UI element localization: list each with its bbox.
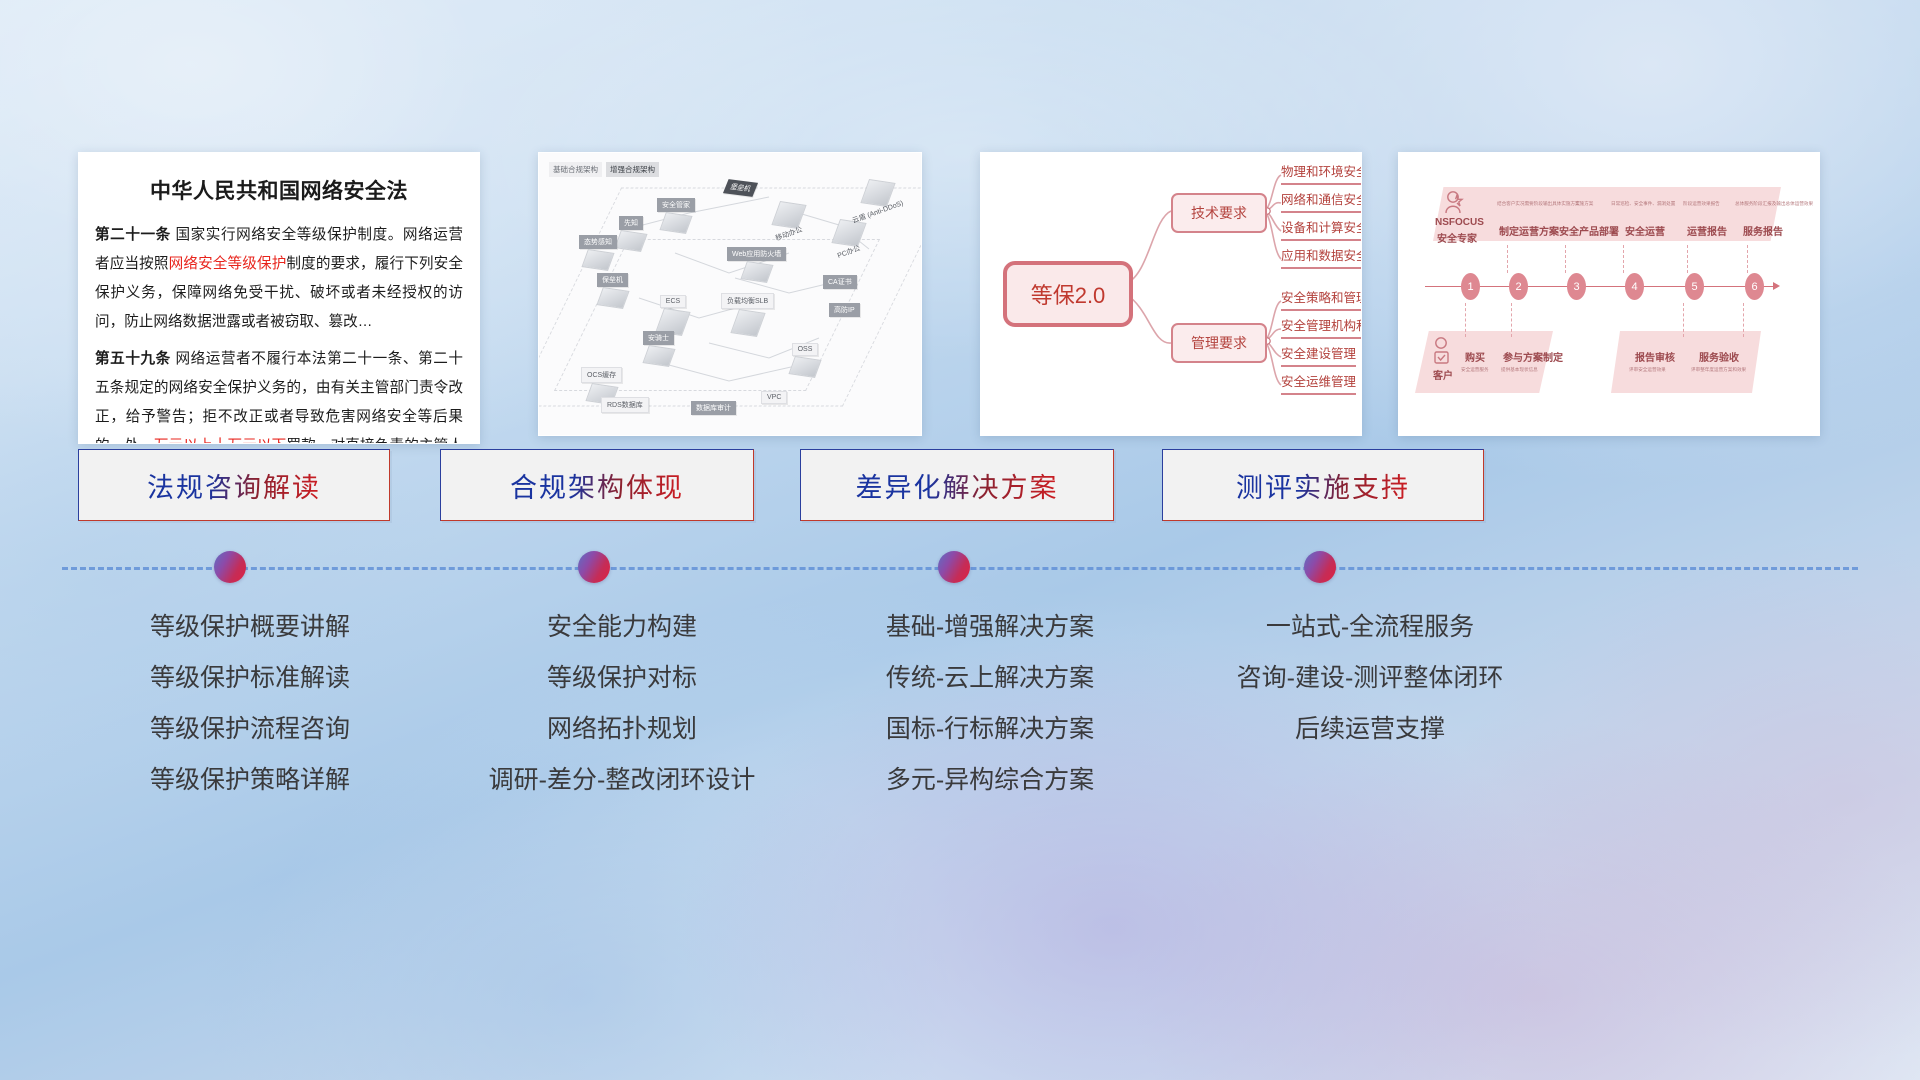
arch-chip-oss: OSS (792, 343, 819, 356)
arch-node-oss: OSS (791, 343, 819, 376)
list-item: 后续运营支撑 (1160, 704, 1580, 755)
nsfocus-top-title-3: 安全运营 (1625, 223, 1665, 238)
nsfocus-top-title-1: 制定运营方案 (1499, 223, 1559, 238)
arch-cube-jump-server (596, 287, 629, 309)
nsfocus-top-sub-5: 总体服务阶段汇报及输出总体运营效果 (1735, 201, 1813, 207)
nsfocus-bottom-title-1: 购买 (1465, 349, 1485, 364)
arch-chip-waf: Web应用防火墙 (727, 247, 786, 261)
arch-node-rds: RDS数据库 (601, 397, 649, 413)
arch-cube-xianzhi (614, 230, 647, 252)
arch-node-anti-ddos-ip: 高防IP (829, 303, 860, 317)
nsfocus-top-sub-2: 实施方案 (1575, 201, 1593, 207)
arch-node-db-audit: 数据库审计 (691, 401, 736, 415)
mindmap-leaf-org-personnel: 安全管理机构和人员 (1281, 315, 1362, 339)
detail-column-1: 等级保护概要讲解 等级保护标准解读 等级保护流程咨询 等级保护策略详解 (60, 602, 440, 806)
nsfocus-tick-1 (1507, 245, 1509, 273)
timeline-dot-1[interactable] (214, 551, 246, 583)
arch-node-waf: Web应用防火墙 (727, 247, 786, 281)
mindmap: 等保2.0 技术要求 管理要求 物理和环境安全 网络和通信安全 设备和计算安全 … (981, 153, 1361, 435)
arch-chip-xianzhi: 先知 (619, 216, 643, 230)
arch-node-slb: 负载均衡SLB (721, 293, 774, 335)
arch-chip-slb: 负载均衡SLB (721, 293, 774, 309)
list-item: 一站式-全流程服务 (1160, 602, 1580, 653)
arch-cube-security-butler (659, 212, 692, 234)
article-21-highlight: 网络安全等级保护 (169, 256, 287, 272)
nsfocus-step-dot-1: 1 (1461, 273, 1480, 300)
nsfocus-top-sub-1: 结合客户实况需要阶段输出具体实施方案 (1497, 201, 1580, 207)
detail-column-3: 基础-增强解决方案 传统-云上解决方案 国标-行标解决方案 多元-异构综合方案 (800, 602, 1180, 806)
arch-node-xianzhi: 先知 (617, 216, 645, 250)
arch-chip-security-butler: 安全管家 (657, 198, 695, 212)
nsfocus-step-dot-6: 6 (1745, 273, 1764, 300)
nsfocus-bottom-title-3: 报告审核 (1635, 349, 1675, 364)
title-label-1: 法规咨询解读 (147, 466, 321, 505)
list-item: 等级保护概要讲解 (60, 602, 440, 653)
arch-cube-slb (730, 309, 765, 337)
arch-node-anqishi: 安骑士 (643, 331, 674, 365)
nsfocus-step-dot-4: 4 (1625, 273, 1644, 300)
card-cybersecurity-law: 中华人民共和国网络安全法 第二十一条 国家实行网络安全等级保护制度。网络运营者应… (78, 152, 480, 444)
law-article-59: 第五十九条 网络运营者不履行本法第二十一条、第二十五条规定的网络安全保护义务的，… (95, 345, 463, 444)
arch-cube-situational-awareness (581, 249, 614, 271)
arch-cube-waf (740, 261, 773, 283)
arch-node-anti-ddos: 云盾 (Anti-DDoS) (851, 179, 905, 217)
nsfocus-top-title-2: 安全产品部署 (1559, 223, 1619, 238)
nsfocus-bottom-sub-2: 提供基本现状信息 (1501, 367, 1538, 373)
list-item: 网络拓扑规划 (432, 704, 812, 755)
architecture-diagram: 基础合规架构 增强合规架构 (539, 153, 921, 435)
arch-node-bastion-top: 堡垒机 (725, 181, 756, 195)
arch-chip-ecs: ECS (660, 295, 686, 308)
nsfocus-tick-7 (1511, 303, 1513, 337)
mindmap-branch-technical: 技术要求 (1171, 193, 1267, 233)
nsfocus-step-dot-5: 5 (1685, 273, 1704, 300)
card-mindmap-dengbao: 等保2.0 技术要求 管理要求 物理和环境安全 网络和通信安全 设备和计算安全 … (980, 152, 1362, 436)
title-label-4: 测评实施支持 (1236, 466, 1410, 505)
mindmap-root: 等保2.0 (1003, 261, 1133, 327)
detail-column-4: 一站式-全流程服务 咨询-建设-测评整体闭环 后续运营支撑 (1160, 602, 1580, 755)
nsfocus-actor-line2: 安全专家 (1437, 230, 1477, 245)
nsfocus-bottom-sub-3: 评审安全运营效果 (1629, 367, 1666, 373)
nsfocus-tick-6 (1465, 303, 1467, 337)
mindmap-leaf-physical-env: 物理和环境安全 (1281, 161, 1362, 185)
title-box-assessment-support[interactable]: 测评实施支持 (1162, 449, 1484, 521)
arch-chip-ca-cert: CA证书 (823, 275, 857, 289)
timeline-dot-3[interactable] (938, 551, 970, 583)
nsfocus-step-dot-3: 3 (1567, 273, 1586, 300)
mindmap-leaf-construction-mgmt: 安全建设管理 (1281, 343, 1356, 367)
nsfocus-top-sub-4: 阶段运营效果报告 (1683, 201, 1720, 207)
list-item: 传统-云上解决方案 (800, 653, 1180, 704)
mindmap-leaf-policy-system: 安全策略和管理制度 (1281, 287, 1362, 311)
arch-node-mobile-office: 移动办公 (775, 201, 803, 239)
nsfocus-tick-9 (1743, 303, 1745, 337)
mindmap-leaf-device-compute: 设备和计算安全 (1281, 217, 1362, 241)
article-59-label: 第五十九条 (95, 351, 171, 367)
arch-chip-vpc: VPC (761, 391, 787, 404)
mindmap-leaf-ops-mgmt: 安全运维管理 (1281, 371, 1356, 395)
arch-node-vpc: VPC (761, 391, 787, 404)
nsfocus-bottom-sub-1: 安全运营服务 (1461, 367, 1489, 373)
list-item: 等级保护对标 (432, 653, 812, 704)
slide-stage: 中华人民共和国网络安全法 第二十一条 国家实行网络安全等级保护制度。网络运营者应… (0, 0, 1920, 1080)
title-box-row: 法规咨询解读 合规架构体现 差异化解决方案 测评实施支持 (0, 449, 1920, 521)
list-item: 国标-行标解决方案 (800, 704, 1180, 755)
title-label-2: 合规架构体现 (510, 466, 684, 505)
list-item: 调研-差分-整改闭环设计 (432, 755, 812, 806)
timeline-track (62, 566, 1858, 570)
list-item: 安全能力构建 (432, 602, 812, 653)
card-nsfocus-service-timeline: NSFOCUS 安全专家 客户 结合客户实况需要阶段输出具体实施方案 制定运营方… (1398, 152, 1820, 436)
arch-cube-anqishi (642, 345, 675, 367)
law-article-21: 第二十一条 国家实行网络安全等级保护制度。网络运营者应当按照网络安全等级保护制度… (95, 221, 463, 337)
title-box-regulation-consulting[interactable]: 法规咨询解读 (78, 449, 390, 521)
title-box-differentiated-solution[interactable]: 差异化解决方案 (800, 449, 1114, 521)
law-title: 中华人民共和国网络安全法 (79, 175, 479, 205)
arch-chip-bastion: 堡垒机 (723, 179, 758, 197)
arch-cube-mobile-office (771, 201, 806, 229)
arch-node-ecs: ECS (659, 295, 687, 334)
arch-chip-anti-ddos-ip: 高防IP (829, 303, 860, 317)
law-body: 第二十一条 国家实行网络安全等级保护制度。网络运营者应当按照网络安全等级保护制度… (79, 221, 479, 444)
title-label-3: 差异化解决方案 (856, 466, 1059, 505)
arch-chip-ocs-cache: OCS缓存 (581, 367, 622, 383)
nsfocus-bottom-sub-4: 评审整年度运营方案和效果 (1691, 367, 1746, 373)
mindmap-branch-management: 管理要求 (1171, 323, 1267, 363)
nsfocus-tick-4 (1687, 245, 1689, 273)
article-59-highlight-1: 一万元以上十万元以下 (139, 438, 286, 444)
card-compliance-architecture: 基础合规架构 增强合规架构 (538, 152, 922, 436)
detail-column-2: 安全能力构建 等级保护对标 网络拓扑规划 调研-差分-整改闭环设计 (432, 602, 812, 806)
list-item: 咨询-建设-测评整体闭环 (1160, 653, 1580, 704)
nsfocus-step-dot-2: 2 (1509, 273, 1528, 300)
mindmap-leaf-network-comm: 网络和通信安全 (1281, 189, 1362, 213)
list-item: 等级保护标准解读 (60, 653, 440, 704)
nsfocus-tick-5 (1747, 245, 1749, 273)
arch-chip-jump-server: 保垒机 (597, 273, 628, 287)
card-row: 中华人民共和国网络安全法 第二十一条 国家实行网络安全等级保护制度。网络运营者应… (0, 152, 1920, 442)
timeline-dot-4[interactable] (1304, 551, 1336, 583)
nsfocus-customer-label: 客户 (1433, 367, 1453, 382)
nsfocus-bottom-title-2: 参与方案制定 (1503, 349, 1563, 364)
article-21-label: 第二十一条 (95, 227, 171, 243)
title-box-compliance-architecture[interactable]: 合规架构体现 (440, 449, 754, 521)
nsfocus-top-title-4: 运营报告 (1687, 223, 1727, 238)
arch-node-ca-cert: CA证书 (823, 275, 857, 289)
timeline-dot-2[interactable] (578, 551, 610, 583)
arch-node-jump-server: 保垒机 (597, 273, 628, 307)
list-item: 等级保护策略详解 (60, 755, 440, 806)
arch-chip-rds: RDS数据库 (601, 397, 649, 413)
arch-node-pc-office: PC办公 (835, 219, 863, 257)
nsfocus-actor-line1: NSFOCUS (1435, 217, 1484, 228)
nsfocus-bottom-title-4: 服务验收 (1699, 349, 1739, 364)
arch-node-situational-awareness: 态势感知 (579, 235, 617, 269)
arch-chip-situational-awareness: 态势感知 (579, 235, 617, 249)
nsfocus-tick-2 (1565, 245, 1567, 273)
arch-chip-anqishi: 安骑士 (643, 331, 674, 345)
nsfocus-top-title-5: 服务报告 (1743, 223, 1783, 238)
list-item: 等级保护流程咨询 (60, 704, 440, 755)
mindmap-leaf-app-data: 应用和数据安全 (1281, 245, 1362, 269)
detail-list-row: 等级保护概要讲解 等级保护标准解读 等级保护流程咨询 等级保护策略详解 安全能力… (0, 602, 1920, 842)
arch-chip-db-audit: 数据库审计 (691, 401, 736, 415)
nsfocus-timeline: NSFOCUS 安全专家 客户 结合客户实况需要阶段输出具体实施方案 制定运营方… (1399, 153, 1819, 435)
nsfocus-tick-8 (1683, 303, 1685, 337)
arch-node-security-butler: 安全管家 (657, 198, 695, 232)
nsfocus-top-sub-3: 日常巡检、安全事件、漏洞处置 (1611, 201, 1675, 207)
nsfocus-tick-3 (1623, 245, 1625, 273)
arch-cube-oss (788, 356, 821, 378)
list-item: 基础-增强解决方案 (800, 602, 1180, 653)
list-item: 多元-异构综合方案 (800, 755, 1180, 806)
